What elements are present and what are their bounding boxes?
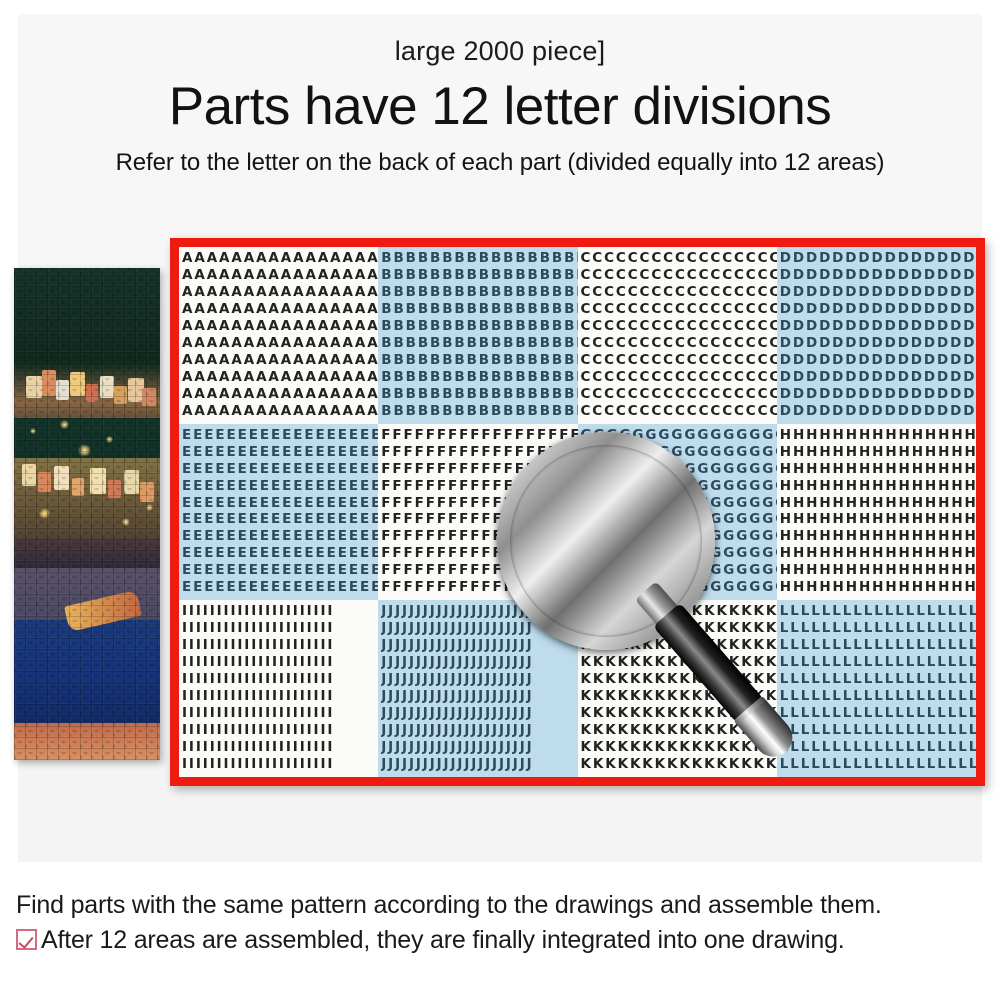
magnified-cell-g: GGGGGGGGGGGGGGG: [606, 445, 702, 541]
letter-line: DDDDDDDDDDDDDDDDDDDDDD: [780, 371, 976, 385]
magnified-letter-line: GGGGG: [608, 485, 702, 525]
letter-line: BBBBBBBBBBBBBBBBBBBBBB: [381, 269, 577, 283]
letter-line: AAAAAAAAAAAAAAAAAAAAAA: [182, 269, 378, 283]
footer-line-2-row: After 12 areas are assembled, they are f…: [16, 923, 1000, 958]
letter-line: CCCCCCCCCCCCCCCCCCCCCC: [581, 354, 777, 368]
letter-line: CCCCCCCCCCCCCCCCCCCCCC: [581, 320, 777, 334]
letter-line: BBBBBBBBBBBBBBBBBBBBBB: [381, 354, 577, 368]
letter-line: DDDDDDDDDDDDDDDDDDDDDD: [780, 405, 976, 419]
header-kicker: large 2000 piece]: [0, 36, 1000, 67]
letter-line: EEEEEEEEEEEEEEEEEEEEEE: [182, 446, 378, 460]
magnifier: FFFFFFFFFFFFFFFGGGGGGGGGGGGGGGJJJJJJJJJJ…: [497, 432, 827, 847]
footer-line-1: Find parts with the same pattern accordi…: [16, 888, 1000, 923]
letter-line: CCCCCCCCCCCCCCCCCCCCCC: [581, 388, 777, 402]
magnified-letter-line: FFFFF: [512, 525, 606, 541]
magnified-letter-line: GGGGG: [608, 525, 702, 541]
letter-line: IIIIIIIIIIIIIIIIIIIIII: [182, 656, 378, 670]
letter-line: DDDDDDDDDDDDDDDDDDDDDD: [780, 354, 976, 368]
letter-line: AAAAAAAAAAAAAAAAAAAAAA: [182, 320, 378, 334]
letter-line: EEEEEEEEEEEEEEEEEEEEEE: [182, 429, 378, 443]
letter-cell-c: CCCCCCCCCCCCCCCCCCCCCCCCCCCCCCCCCCCCCCCC…: [578, 247, 777, 424]
letter-line: DDDDDDDDDDDDDDDDDDDDDD: [780, 388, 976, 402]
letter-line: IIIIIIIIIIIIIIIIIIIIII: [182, 690, 378, 704]
letter-line: BBBBBBBBBBBBBBBBBBBBBB: [381, 303, 577, 317]
letter-line: IIIIIIIIIIIIIIIIIIIIII: [182, 758, 378, 772]
magnified-letter-line: GGGGG: [608, 445, 702, 485]
letter-line: AAAAAAAAAAAAAAAAAAAAAA: [182, 371, 378, 385]
photo-jigsaw-knobs: [14, 268, 160, 760]
letter-line: CCCCCCCCCCCCCCCCCCCCCC: [581, 252, 777, 266]
magnifier-handle-body: [653, 603, 764, 723]
letter-line: BBBBBBBBBBBBBBBBBBBBBB: [381, 252, 577, 266]
letter-line: EEEEEEEEEEEEEEEEEEEEEE: [182, 463, 378, 477]
letter-line: IIIIIIIIIIIIIIIIIIIIII: [182, 605, 378, 619]
letter-line: IIIIIIIIIIIIIIIIIIIIII: [182, 673, 378, 687]
letter-cell-a: AAAAAAAAAAAAAAAAAAAAAAAAAAAAAAAAAAAAAAAA…: [179, 247, 378, 424]
letter-line: EEEEEEEEEEEEEEEEEEEEEE: [182, 530, 378, 544]
letter-line: AAAAAAAAAAAAAAAAAAAAAA: [182, 286, 378, 300]
magnified-letter-line: KKKKK: [608, 541, 702, 581]
checkbox-icon: [16, 929, 37, 950]
letter-line: AAAAAAAAAAAAAAAAAAAAAA: [182, 337, 378, 351]
puzzle-photo: [14, 268, 160, 760]
letter-line: DDDDDDDDDDDDDDDDDDDDDD: [780, 303, 976, 317]
letter-line: IIIIIIIIIIIIIIIIIIIIII: [182, 724, 378, 738]
letter-line: BBBBBBBBBBBBBBBBBBBBBB: [381, 405, 577, 419]
letter-cell-i: IIIIIIIIIIIIIIIIIIIIIIIIIIIIIIIIIIIIIIII…: [179, 600, 378, 777]
letter-line: CCCCCCCCCCCCCCCCCCCCCC: [581, 337, 777, 351]
letter-cell-b: BBBBBBBBBBBBBBBBBBBBBBBBBBBBBBBBBBBBBBBB…: [378, 247, 577, 424]
letter-line: IIIIIIIIIIIIIIIIIIIIII: [182, 741, 378, 755]
letter-line: CCCCCCCCCCCCCCCCCCCCCC: [581, 371, 777, 385]
letter-line: CCCCCCCCCCCCCCCCCCCCCC: [581, 405, 777, 419]
header: large 2000 piece] Parts have 12 letter d…: [0, 0, 1000, 177]
letter-line: BBBBBBBBBBBBBBBBBBBBBB: [381, 388, 577, 402]
letter-line: AAAAAAAAAAAAAAAAAAAAAA: [182, 405, 378, 419]
letter-line: EEEEEEEEEEEEEEEEEEEEEE: [182, 547, 378, 561]
header-subtitle: Refer to the letter on the back of each …: [0, 149, 1000, 177]
letter-line: BBBBBBBBBBBBBBBBBBBBBB: [381, 371, 577, 385]
letter-line: DDDDDDDDDDDDDDDDDDDDDD: [780, 320, 976, 334]
page-title: Parts have 12 letter divisions: [0, 79, 1000, 135]
letter-line: CCCCCCCCCCCCCCCCCCCCCC: [581, 286, 777, 300]
letter-line: AAAAAAAAAAAAAAAAAAAAAA: [182, 388, 378, 402]
letter-line: IIIIIIIIIIIIIIIIIIIIII: [182, 622, 378, 636]
footer: Find parts with the same pattern accordi…: [0, 888, 1000, 957]
letter-line: EEEEEEEEEEEEEEEEEEEEEE: [182, 480, 378, 494]
puzzle-photo-image: [14, 268, 160, 760]
magnified-letter-line: FFFFF: [512, 485, 606, 525]
letter-cell-e: EEEEEEEEEEEEEEEEEEEEEEEEEEEEEEEEEEEEEEEE…: [179, 424, 378, 601]
magnified-letter-line: JJJJJ: [512, 621, 606, 637]
letter-line: IIIIIIIIIIIIIIIIIIIIII: [182, 707, 378, 721]
letter-line: AAAAAAAAAAAAAAAAAAAAAA: [182, 303, 378, 317]
letter-line: BBBBBBBBBBBBBBBBBBBBBB: [381, 320, 577, 334]
letter-line: BBBBBBBBBBBBBBBBBBBBBB: [381, 286, 577, 300]
magnified-letter-line: JJJJJ: [512, 581, 606, 621]
letter-line: DDDDDDDDDDDDDDDDDDDDDD: [780, 252, 976, 266]
letter-cell-d: DDDDDDDDDDDDDDDDDDDDDDDDDDDDDDDDDDDDDDDD…: [777, 247, 976, 424]
letter-line: EEEEEEEEEEEEEEEEEEEEEE: [182, 513, 378, 527]
letter-line: CCCCCCCCCCCCCCCCCCCCCC: [581, 303, 777, 317]
letter-line: IIIIIIIIIIIIIIIIIIIIII: [182, 639, 378, 653]
letter-line: AAAAAAAAAAAAAAAAAAAAAA: [182, 354, 378, 368]
letter-line: CCCCCCCCCCCCCCCCCCCCCC: [581, 269, 777, 283]
letter-line: EEEEEEEEEEEEEEEEEEEEEE: [182, 497, 378, 511]
letter-line: EEEEEEEEEEEEEEEEEEEEEE: [182, 581, 378, 595]
letter-line: DDDDDDDDDDDDDDDDDDDDDD: [780, 286, 976, 300]
magnified-cell-j: JJJJJJJJJJJJJJJ: [510, 541, 606, 637]
letter-line: EEEEEEEEEEEEEEEEEEEEEE: [182, 564, 378, 578]
magnified-letter-line: FFFFF: [512, 445, 606, 485]
letter-line: BBBBBBBBBBBBBBBBBBBBBB: [381, 337, 577, 351]
magnified-letter-line: JJJJJ: [512, 541, 606, 581]
letter-line: AAAAAAAAAAAAAAAAAAAAAA: [182, 252, 378, 266]
letter-line: DDDDDDDDDDDDDDDDDDDDDD: [780, 337, 976, 351]
footer-line-2: After 12 areas are assembled, they are f…: [41, 923, 845, 958]
magnifier-handle: [638, 586, 795, 759]
letter-line: DDDDDDDDDDDDDDDDDDDDDD: [780, 269, 976, 283]
magnified-cell-f: FFFFFFFFFFFFFFF: [510, 445, 606, 541]
